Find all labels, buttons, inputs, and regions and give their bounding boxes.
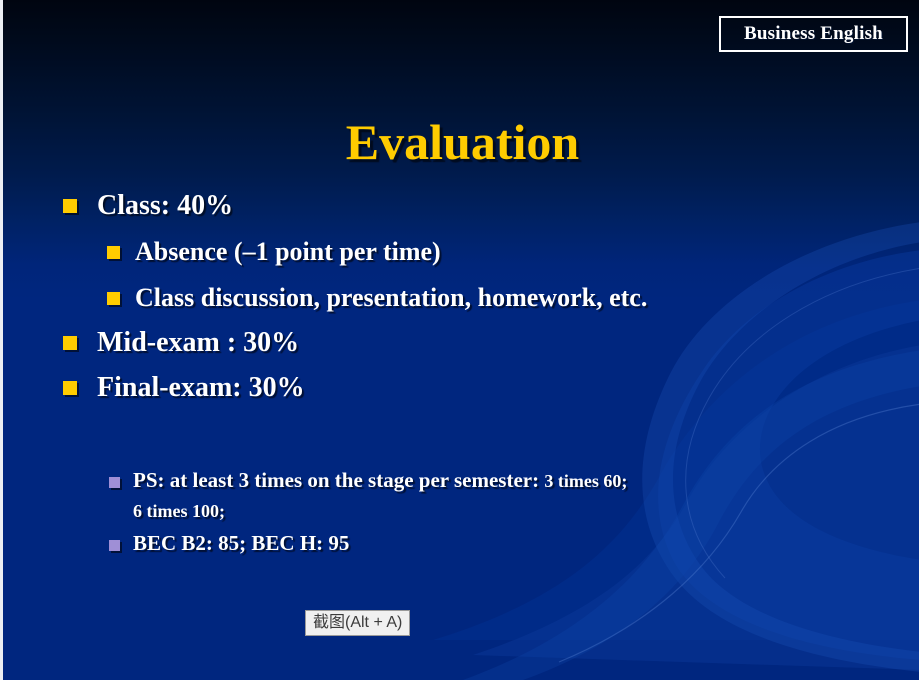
bullet-square-icon	[63, 199, 77, 213]
ps-text-detail-2: 6 times 100;	[133, 501, 225, 521]
bullet-item-mid-exam: Mid-exam : 30%	[3, 323, 919, 363]
ps-text-main: PS: at least 3 times on the stage per se…	[133, 468, 544, 492]
bullet-text: Absence (–1 point per time)	[135, 231, 441, 273]
bullet-text-group: PS: at least 3 times on the stage per se…	[133, 465, 627, 526]
bullet-text: Mid-exam : 30%	[97, 323, 299, 363]
bullet-square-icon	[63, 336, 77, 350]
header-label-text: Business English	[744, 23, 883, 45]
bullet-square-icon	[63, 381, 77, 395]
slide-body: Class: 40% Absence (–1 point per time) C…	[3, 186, 919, 560]
bullet-text: Class: 40%	[97, 186, 233, 226]
bullet-square-icon	[107, 292, 120, 305]
bullet-text: BEC B2: 85; BEC H: 95	[133, 528, 349, 558]
bullet-text: Final-exam: 30%	[97, 368, 305, 408]
presentation-slide: Business English Evaluation Class: 40% A…	[0, 0, 919, 680]
bullet-item-absence: Absence (–1 point per time)	[3, 231, 919, 273]
bullet-item-class-discussion: Class discussion, presentation, homework…	[3, 277, 919, 319]
bullet-square-icon	[109, 477, 120, 488]
bullet-item-class: Class: 40%	[3, 186, 919, 226]
bullet-item-final-exam: Final-exam: 30%	[3, 368, 919, 408]
header-label-box: Business English	[719, 16, 908, 52]
screenshot-shortcut-tooltip: 截图(Alt + A)	[305, 610, 410, 636]
body-spacer	[3, 413, 919, 465]
slide-title: Evaluation	[3, 117, 919, 167]
bullet-item-bec: BEC B2: 85; BEC H: 95	[3, 528, 919, 558]
bullet-square-icon	[107, 246, 120, 259]
ps-text-detail: 3 times 60;	[544, 471, 627, 491]
bullet-item-ps: PS: at least 3 times on the stage per se…	[3, 465, 919, 526]
bullet-text: Class discussion, presentation, homework…	[135, 277, 647, 319]
bullet-square-icon	[109, 540, 120, 551]
